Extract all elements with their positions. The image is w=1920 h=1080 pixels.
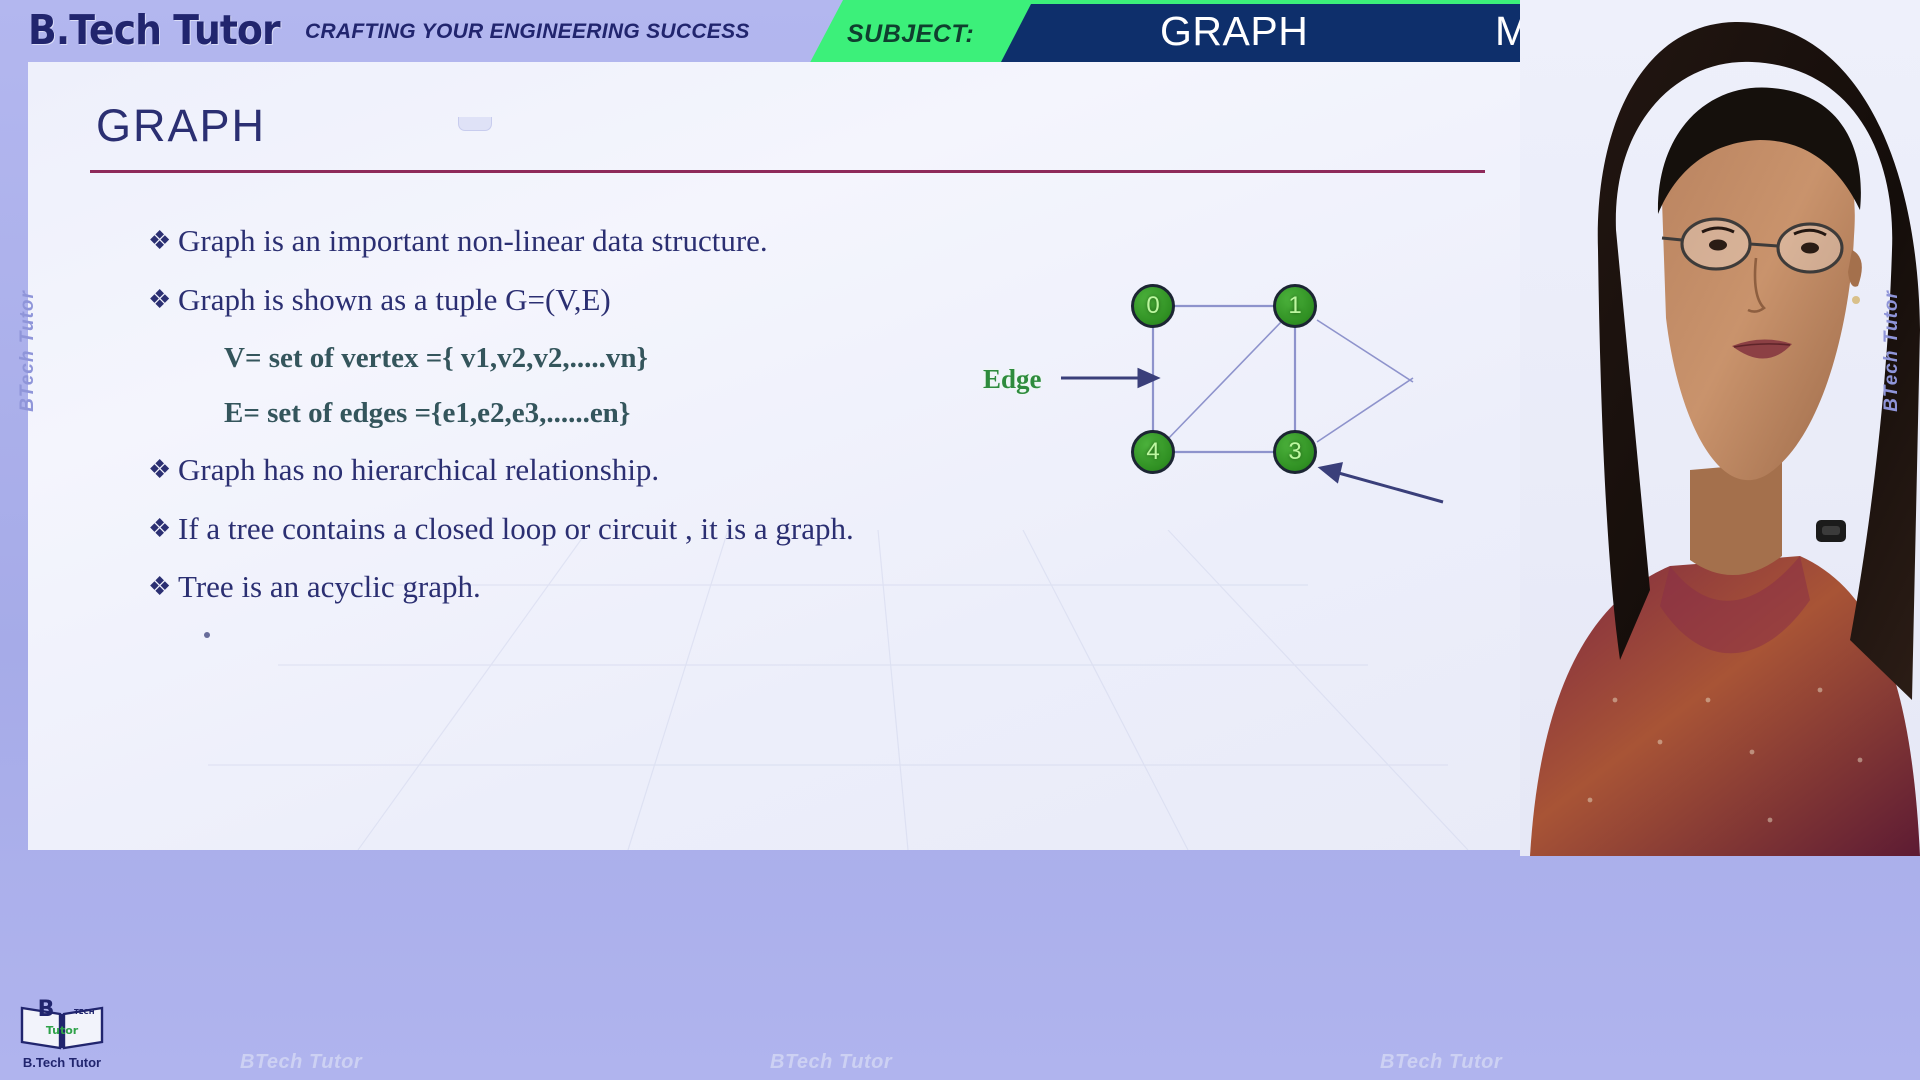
list-item: ❖ If a tree contains a closed loop or ci… — [148, 510, 1028, 549]
stray-ink-dot — [204, 632, 210, 638]
video-frame: B.Tech Tutor CRAFTING YOUR ENGINEERING S… — [0, 0, 1920, 1080]
bullet-list: ❖ Graph is an important non-linear data … — [148, 222, 1028, 627]
sub-line-edge-set: E= set of edges ={e1,e2,e3,......en} — [224, 395, 1028, 433]
graph-node-1: 1 — [1273, 284, 1317, 328]
list-item-label: Graph is shown as a tuple G=(V,E) — [178, 281, 611, 320]
graph-node-label: 1 — [1288, 292, 1301, 320]
list-item: ❖ Graph is an important non-linear data … — [148, 222, 1028, 261]
list-item-label: If a tree contains a closed loop or circ… — [178, 510, 854, 549]
graph-node-label: 4 — [1146, 438, 1159, 466]
title-divider — [90, 170, 1485, 173]
list-item: ❖ Graph is shown as a tuple G=(V,E) — [148, 281, 1028, 320]
graph-node-4: 4 — [1131, 430, 1175, 474]
svg-text:B: B — [38, 997, 55, 1022]
diamond-bullet-icon: ❖ — [148, 451, 178, 489]
svg-text:Tutor: Tutor — [46, 1024, 79, 1037]
watermark-footer-2: BTech Tutor — [770, 1051, 892, 1074]
graph-node-0: 0 — [1131, 284, 1175, 328]
slide-top-tab — [458, 117, 492, 131]
list-item-label: Tree is an acyclic graph. — [178, 568, 481, 607]
svg-text:TECH: TECH — [74, 1008, 95, 1016]
subject-label: SUBJECT: — [847, 20, 974, 49]
presenter-figure — [1520, 0, 1920, 856]
watermark-left: BTech Tutor — [17, 271, 39, 431]
list-item: ❖ Graph has no hierarchical relationship… — [148, 451, 1028, 490]
watermark-footer-1: BTech Tutor — [240, 1051, 362, 1074]
diamond-bullet-icon: ❖ — [148, 568, 178, 606]
list-item-label: Graph has no hierarchical relationship. — [178, 451, 659, 490]
graph-node-3: 3 — [1273, 430, 1317, 474]
brand-tagline: CRAFTING YOUR ENGINEERING SUCCESS — [305, 20, 750, 44]
graph-node-label: 0 — [1146, 292, 1159, 320]
edge-annotation-label: Edge — [983, 364, 1042, 395]
diamond-bullet-icon: ❖ — [148, 222, 178, 260]
logo-caption: B.Tech Tutor — [23, 1055, 101, 1070]
diamond-bullet-icon: ❖ — [148, 281, 178, 319]
subject-value: GRAPH — [1160, 8, 1308, 55]
graph-figure: Edge 0 1 4 3 — [943, 202, 1503, 522]
book-logo-icon: B TECH Tutor — [16, 994, 108, 1052]
diamond-bullet-icon: ❖ — [148, 510, 178, 548]
presenter-video — [1520, 0, 1920, 856]
graph-edges — [943, 202, 1503, 522]
sub-line-vertex-set: V= set of vertex ={ v1,v2,v2,.....vn} — [224, 340, 1028, 378]
brand-name: B.Tech Tutor — [28, 6, 280, 54]
watermark-right: BTech Tutor — [1881, 271, 1903, 431]
slide-canvas: GRAPH ❖ Graph is an important non-linear… — [28, 62, 1530, 850]
list-item-label: Graph is an important non-linear data st… — [178, 222, 768, 261]
graph-node-label: 3 — [1288, 438, 1301, 466]
watermark-footer-3: BTech Tutor — [1380, 1051, 1502, 1074]
list-item: ❖ Tree is an acyclic graph. — [148, 568, 1028, 607]
page-title: GRAPH — [96, 100, 266, 152]
logo: B TECH Tutor B.Tech Tutor — [8, 978, 116, 1070]
